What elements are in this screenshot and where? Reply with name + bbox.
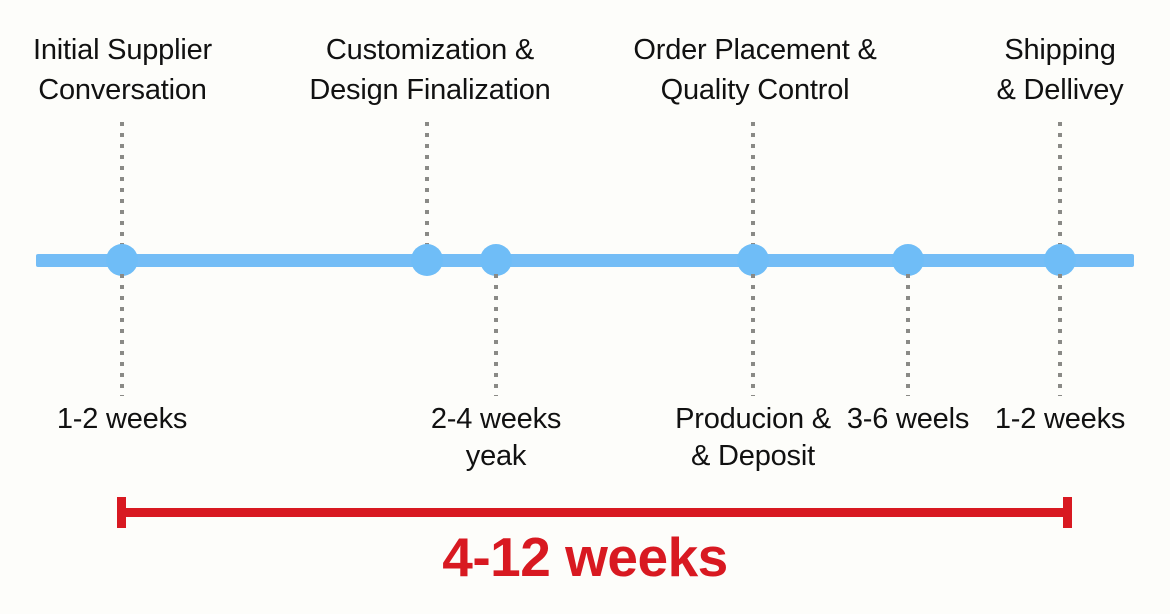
connector-down-order-placement-quality-control [751,274,755,396]
phase-bottom-label-order-placement-quality-control: Producion & & Deposit [653,401,853,474]
phase-bottom-label-production-run: 3-6 weels [838,401,978,438]
total-bracket-bar [117,508,1072,517]
phase-top-label-initial-supplier-conversation: Initial Supplier Conversation [5,30,240,110]
connector-up-shipping-delivery [1058,122,1062,248]
timeline-axis [36,254,1134,267]
timeline-node-shipping-delivery[interactable] [1044,244,1076,276]
timeline-diagram: Initial Supplier Conversation Customizat… [0,0,1170,614]
phase-bottom-label-production-deposit: 2-4 weeks yeak [396,401,596,474]
connector-up-order-placement-quality-control [751,122,755,248]
connector-down-production-run [906,274,910,396]
timeline-node-customization-design-finalization[interactable] [411,244,443,276]
phase-top-label-shipping-delivery: Shipping & Dellivey [960,30,1160,110]
phase-bottom-label-initial-supplier-conversation: 1-2 weeks [22,401,222,438]
connector-up-initial-supplier-conversation [120,122,124,248]
connector-up-customization-design-finalization [425,122,429,248]
connector-down-shipping-delivery [1058,274,1062,396]
total-duration-label: 4-12 weeks [285,530,885,585]
total-bracket-right-cap [1063,497,1072,528]
phase-top-label-customization-design-finalization: Customization & Design Finalization [295,30,565,110]
timeline-node-initial-supplier-conversation[interactable] [106,244,138,276]
phase-bottom-label-shipping-delivery: 1-2 weeks [985,401,1135,438]
connector-down-production-deposit [494,274,498,396]
timeline-node-production-deposit[interactable] [480,244,512,276]
connector-down-initial-supplier-conversation [120,274,124,396]
timeline-node-production-run[interactable] [892,244,924,276]
timeline-node-order-placement-quality-control[interactable] [737,244,769,276]
phase-top-label-order-placement-quality-control: Order Placement & Quality Control [620,30,890,110]
